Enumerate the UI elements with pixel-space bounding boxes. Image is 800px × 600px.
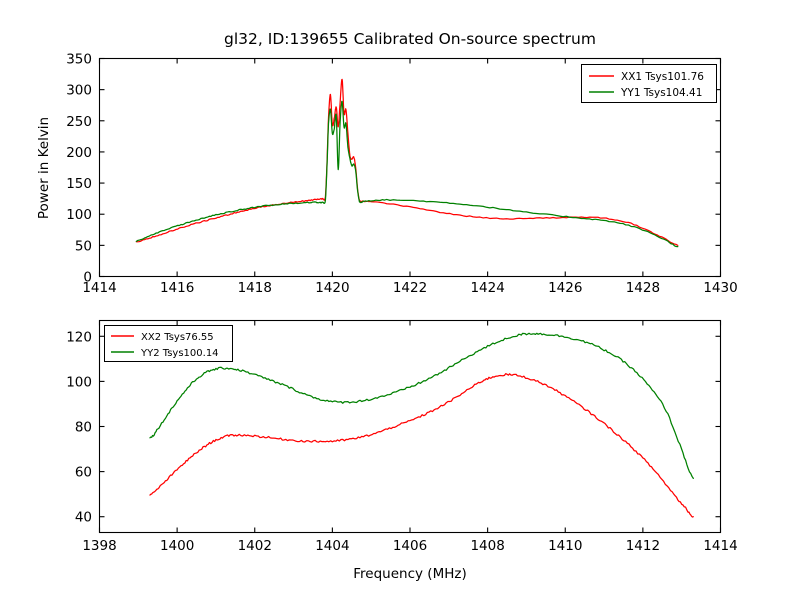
top-ytick-labels: 050100150200250300350 bbox=[66, 52, 92, 286]
ytick-label: 40 bbox=[75, 510, 92, 526]
ytick-label: 300 bbox=[66, 83, 92, 99]
xtick-label: 1418 bbox=[238, 280, 272, 296]
ytick-label: 200 bbox=[66, 145, 92, 161]
top-ylabel: Power in Kelvin bbox=[36, 117, 52, 219]
xtick-label: 1426 bbox=[548, 280, 582, 296]
legend-label-xx1: XX1 Tsys101.76 bbox=[621, 71, 704, 83]
ytick-label: 80 bbox=[75, 420, 92, 436]
ytick-label: 250 bbox=[66, 114, 92, 130]
xtick-label: 1420 bbox=[315, 280, 349, 296]
xtick-label: 1412 bbox=[626, 538, 660, 554]
legend-label-yy2: YY2 Tsys100.14 bbox=[140, 348, 219, 359]
ytick-label: 50 bbox=[75, 238, 92, 254]
xtick-label: 1408 bbox=[470, 538, 504, 554]
xtick-label: 1414 bbox=[703, 538, 737, 554]
bottom-xlabel: Frequency (MHz) bbox=[353, 566, 466, 582]
xtick-label: 1404 bbox=[315, 538, 349, 554]
top-xtick-labels: 141414161418142014221424142614281430 bbox=[82, 280, 737, 296]
ytick-label: 0 bbox=[83, 270, 92, 286]
ytick-label: 350 bbox=[66, 52, 92, 68]
bottom-ytick-labels: 406080100120 bbox=[66, 329, 92, 525]
xtick-label: 1398 bbox=[82, 538, 116, 554]
xtick-label: 1402 bbox=[238, 538, 272, 554]
bottom-xtick-labels: 139814001402140414061408141014121414 bbox=[82, 538, 737, 554]
bottom-legend[interactable]: XX2 Tsys76.55 YY2 Tsys100.14 bbox=[105, 326, 233, 362]
xtick-label: 1422 bbox=[393, 280, 427, 296]
xtick-label: 1424 bbox=[470, 280, 504, 296]
top-legend[interactable]: XX1 Tsys101.76 YY1 Tsys104.41 bbox=[582, 65, 717, 103]
xtick-label: 1406 bbox=[393, 538, 427, 554]
figure-canvas: gl32, ID:139655 Calibrated On-source spe… bbox=[0, 0, 800, 600]
ytick-label: 120 bbox=[66, 329, 92, 345]
legend-label-xx2: XX2 Tsys76.55 bbox=[141, 332, 214, 343]
series-line-xx2 bbox=[150, 374, 693, 517]
ytick-label: 150 bbox=[66, 176, 92, 192]
xtick-label: 1430 bbox=[703, 280, 737, 296]
legend-label-yy1: YY1 Tsys104.41 bbox=[620, 87, 702, 99]
top-series-group bbox=[136, 79, 677, 246]
xtick-label: 1416 bbox=[160, 280, 194, 296]
ytick-label: 100 bbox=[66, 374, 92, 390]
bottom-panel: 139814001402140414061408141014121414 406… bbox=[66, 321, 737, 583]
xtick-label: 1410 bbox=[548, 538, 582, 554]
ytick-label: 100 bbox=[66, 207, 92, 223]
xtick-label: 1428 bbox=[626, 280, 660, 296]
spectrum-figure: gl32, ID:139655 Calibrated On-source spe… bbox=[0, 0, 800, 600]
series-line-xx1 bbox=[136, 79, 677, 245]
ytick-label: 60 bbox=[75, 465, 92, 481]
top-panel: gl32, ID:139655 Calibrated On-source spe… bbox=[36, 30, 738, 296]
series-line-yy1 bbox=[136, 101, 677, 246]
xtick-label: 1400 bbox=[160, 538, 194, 554]
figure-title: gl32, ID:139655 Calibrated On-source spe… bbox=[224, 30, 596, 48]
